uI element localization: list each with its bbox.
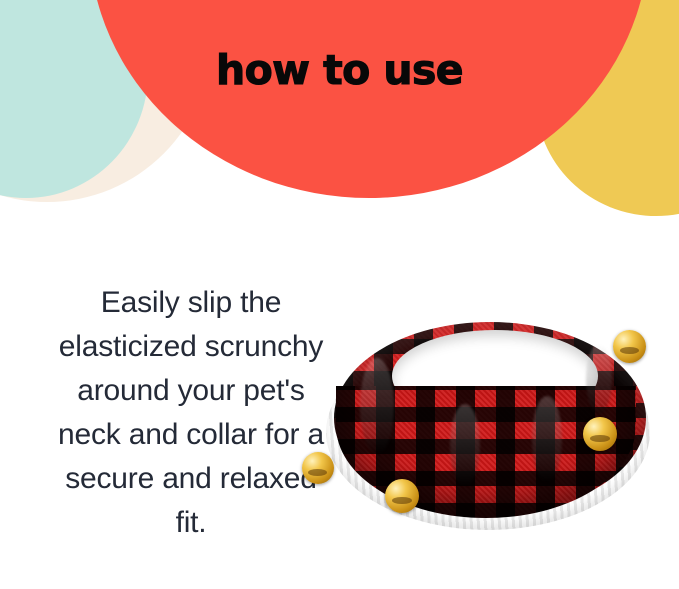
product-image-pet-scrunchy-collar <box>300 300 679 565</box>
fabric-gather-2 <box>450 404 480 486</box>
fabric-gather-3 <box>532 396 562 482</box>
jingle-bell-top-right <box>613 330 646 363</box>
how-to-use-page: how to use Easily slip the elasticized s… <box>0 0 679 589</box>
jingle-bell-middle-right <box>583 417 617 451</box>
collar-illustration <box>300 300 679 565</box>
header-decorative-band: how to use <box>0 0 679 232</box>
jingle-bell-left <box>302 452 334 484</box>
fabric-gather-1 <box>360 358 394 454</box>
instruction-text: Easily slip the elasticized scrunchy aro… <box>52 281 330 545</box>
fabric-gather-4 <box>586 344 612 414</box>
page-title: how to use <box>0 48 679 92</box>
jingle-bell-bottom-left <box>385 479 419 513</box>
